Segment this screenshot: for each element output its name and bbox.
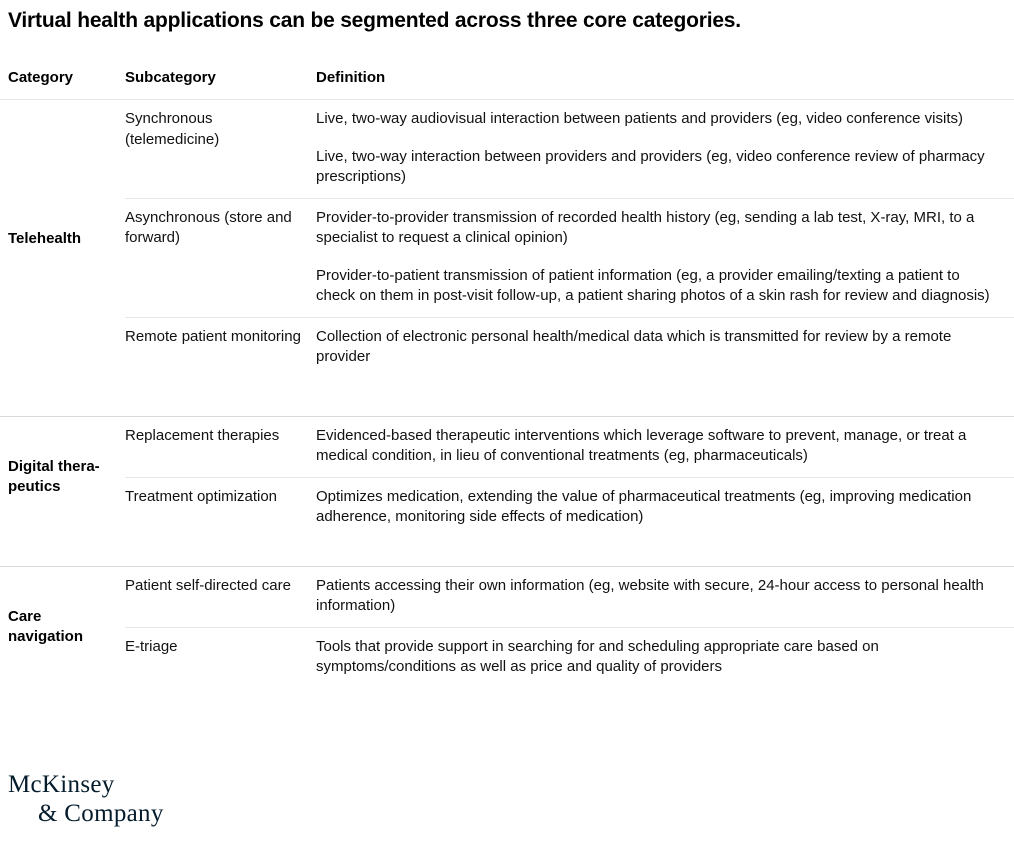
subcategory-label: Replacement therapies bbox=[125, 426, 302, 447]
table-row: E-triageTools that provide support in se… bbox=[125, 627, 1014, 688]
section-spacer bbox=[0, 688, 1014, 716]
subcategory-groups: Replacement therapiesEvidenced-based the… bbox=[125, 417, 1014, 538]
definition-cell: Evidenced-based therapeutic intervention… bbox=[316, 426, 1014, 467]
definition-cell: Tools that provide support in searching … bbox=[316, 637, 1014, 678]
category-label: Telehealth bbox=[8, 229, 81, 249]
subcategory-groups: Synchronous (telemedicine)Live, two-way … bbox=[125, 100, 1014, 378]
definition-cell: Optimizes medication, extending the valu… bbox=[316, 487, 1014, 528]
logo-line-1: McKinsey bbox=[8, 772, 164, 797]
table-section: TelehealthSynchronous (telemedicine)Live… bbox=[0, 100, 1014, 416]
subcategory-label: Treatment optimization bbox=[125, 487, 302, 508]
section-body: TelehealthSynchronous (telemedicine)Live… bbox=[0, 100, 1014, 378]
section-spacer bbox=[0, 378, 1014, 416]
definition-text: Optimizes medication, extending the valu… bbox=[316, 487, 998, 528]
table-section: Care navigationPatient self-directed car… bbox=[0, 567, 1014, 716]
category-label: Digital thera-peutics bbox=[8, 457, 117, 497]
subcategory-groups: Patient self-directed carePatients acces… bbox=[125, 567, 1014, 688]
subcategory-label: Remote patient monitoring bbox=[125, 327, 302, 348]
definition-text: Tools that provide support in searching … bbox=[316, 637, 998, 678]
mckinsey-logo: McKinsey & Company bbox=[8, 772, 164, 826]
category-cell: Telehealth bbox=[0, 100, 125, 378]
subcategory-cell: Synchronous (telemedicine) bbox=[125, 109, 316, 150]
definition-cell: Patients accessing their own information… bbox=[316, 576, 1014, 617]
subcategory-label: E-triage bbox=[125, 637, 302, 658]
definition-text: Collection of electronic personal health… bbox=[316, 327, 998, 368]
category-cell: Care navigation bbox=[0, 567, 125, 688]
table-row: Replacement therapiesEvidenced-based the… bbox=[125, 417, 1014, 477]
definition-text: Provider-to-patient transmission of pati… bbox=[316, 266, 998, 307]
table-row: Synchronous (telemedicine)Live, two-way … bbox=[125, 100, 1014, 198]
definition-text: Provider-to-provider transmission of rec… bbox=[316, 208, 998, 249]
subcategory-label: Asynchronous (store and forward) bbox=[125, 208, 302, 249]
subcategory-cell: Replacement therapies bbox=[125, 426, 316, 447]
subcategory-cell: Treatment optimization bbox=[125, 487, 316, 508]
category-cell: Digital thera-peutics bbox=[0, 417, 125, 538]
table-section: Digital thera-peuticsReplacement therapi… bbox=[0, 417, 1014, 566]
subcategory-cell: Patient self-directed care bbox=[125, 576, 316, 597]
table-row: Asynchronous (store and forward)Provider… bbox=[125, 198, 1014, 317]
logo-line-2: & Company bbox=[8, 801, 164, 826]
subcategory-label: Synchronous (telemedicine) bbox=[125, 109, 302, 150]
section-body: Digital thera-peuticsReplacement therapi… bbox=[0, 417, 1014, 538]
subcategory-cell: Remote patient monitoring bbox=[125, 327, 316, 348]
table-row: Patient self-directed carePatients acces… bbox=[125, 567, 1014, 627]
categories-table: Category Subcategory Definition Teleheal… bbox=[0, 68, 1014, 716]
exhibit-page: Virtual health applications can be segme… bbox=[0, 0, 1014, 842]
definition-cell: Collection of electronic personal health… bbox=[316, 327, 1014, 368]
definition-cell: Provider-to-provider transmission of rec… bbox=[316, 208, 1014, 307]
definition-text: Live, two-way audiovisual interaction be… bbox=[316, 109, 998, 130]
column-header-subcategory: Subcategory bbox=[125, 68, 316, 88]
table-sections: TelehealthSynchronous (telemedicine)Live… bbox=[0, 100, 1014, 716]
definition-text: Live, two-way interaction between provid… bbox=[316, 147, 998, 188]
subcategory-label: Patient self-directed care bbox=[125, 576, 302, 597]
definition-cell: Live, two-way audiovisual interaction be… bbox=[316, 109, 1014, 188]
page-title: Virtual health applications can be segme… bbox=[8, 8, 998, 34]
section-spacer bbox=[0, 538, 1014, 566]
definition-text: Evidenced-based therapeutic intervention… bbox=[316, 426, 998, 467]
subcategory-cell: Asynchronous (store and forward) bbox=[125, 208, 316, 249]
table-row: Remote patient monitoringCollection of e… bbox=[125, 317, 1014, 378]
definition-text: Patients accessing their own information… bbox=[316, 576, 998, 617]
column-header-definition: Definition bbox=[316, 68, 1014, 88]
section-body: Care navigationPatient self-directed car… bbox=[0, 567, 1014, 688]
category-label: Care navigation bbox=[8, 607, 117, 647]
column-header-category: Category bbox=[0, 68, 125, 88]
table-header-row: Category Subcategory Definition bbox=[0, 68, 1014, 99]
table-row: Treatment optimizationOptimizes medicati… bbox=[125, 477, 1014, 538]
subcategory-cell: E-triage bbox=[125, 637, 316, 658]
